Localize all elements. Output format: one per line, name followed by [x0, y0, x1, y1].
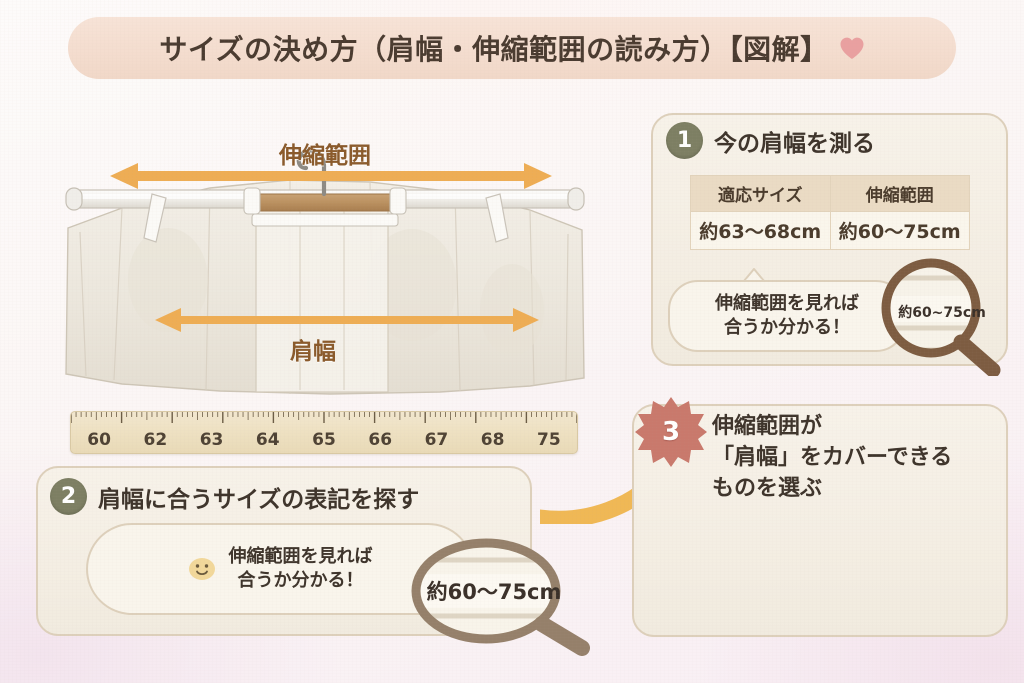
ruler-mark: 67 [425, 430, 449, 450]
table-header-row: 適応サイズ 伸縮範囲 [691, 176, 970, 212]
stretch-range-label: 伸縮範囲 [279, 136, 371, 170]
ruler-ticks [71, 412, 577, 425]
step-3-badge: 3 [635, 396, 707, 468]
step-3-title-line: 伸縮範囲が [712, 411, 952, 442]
step-1-callout-text: 伸縮範囲を見れば 合うか分かる！ [715, 292, 859, 340]
step-3-title: 伸縮範囲が 「肩幅」をカバーできる ものを選ぶ [712, 411, 952, 505]
ruler-mark: 68 [481, 430, 505, 450]
ruler-mark: 65 [312, 430, 336, 450]
step-2-badge: 2 [50, 478, 87, 515]
magnifier-1-text: 約60~75cm [894, 302, 990, 322]
size-table: 適応サイズ 伸縮範囲 約63〜68cm 約60〜75cm [690, 175, 970, 250]
ruler-mark: 64 [256, 430, 280, 450]
step-2-title: 肩幅に合うサイズの表記を探す [98, 480, 419, 514]
step-3-badge-number: 3 [635, 396, 707, 468]
table-header-cell: 適応サイズ [691, 176, 831, 212]
table-cell: 約60〜75cm [830, 212, 970, 250]
callout-line: 合うか分かる！ [715, 316, 859, 340]
table-cell: 約63〜68cm [691, 212, 831, 250]
shoulder-width-arrow [155, 308, 539, 332]
ruler-number-row: 60 62 63 64 65 66 67 68 75 [71, 425, 577, 454]
callout-line: 伸縮範囲を見れば [715, 292, 859, 316]
infographic-canvas: サイズの決め方（肩幅・伸縮範囲の読み方）【図解】 [0, 0, 1024, 683]
step-1-badge: 1 [666, 122, 703, 159]
step-2-header: 2 肩幅に合うサイズの表記を探す [50, 478, 419, 515]
smiley-icon [188, 555, 216, 583]
step-2-callout-text: 伸縮範囲を見れば 合うか分かる！ [229, 545, 373, 593]
step-1-title: 今の肩幅を測る [714, 124, 875, 158]
page-title: サイズの決め方（肩幅・伸縮範囲の読み方）【図解】 [159, 28, 828, 68]
ruler-mark: 60 [87, 430, 111, 450]
heart-icon [839, 36, 865, 60]
callout-line: 伸縮範囲を見れば [229, 545, 373, 569]
step-3-title-line: 「肩幅」をカバーできる [712, 442, 952, 473]
step-3-title-line: ものを選ぶ [712, 473, 952, 504]
ruler-mark: 63 [200, 430, 224, 450]
table-row: 約63〜68cm 約60〜75cm [691, 212, 970, 250]
shoulder-width-label: 肩幅 [290, 332, 336, 366]
step-1-header: 1 今の肩幅を測る [666, 122, 875, 159]
table-header-cell: 伸縮範囲 [830, 176, 970, 212]
title-banner: サイズの決め方（肩幅・伸縮範囲の読み方）【図解】 [68, 17, 956, 79]
callout-line: 合うか分かる！ [229, 569, 373, 593]
step-1-callout: 伸縮範囲を見れば 合うか分かる！ [668, 280, 906, 352]
measuring-ruler: 60 62 63 64 65 66 67 68 75 [70, 411, 578, 454]
ruler-mark: 66 [368, 430, 392, 450]
ruler-mark: 62 [143, 430, 167, 450]
magnifier-2-text: 約60〜75cm [424, 576, 564, 606]
